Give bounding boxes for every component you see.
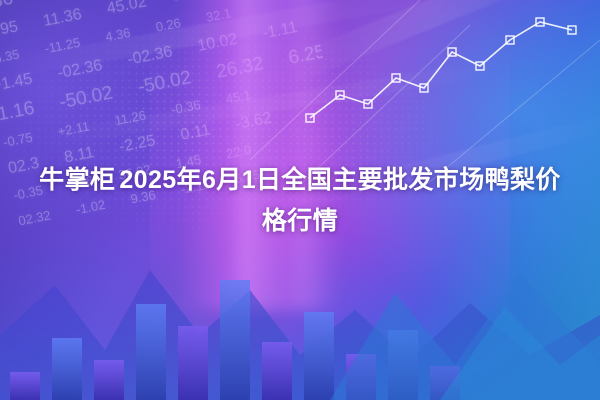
trend-line-path xyxy=(310,22,572,118)
headline-text: 牛掌柜2025年6月1日全国主要批发市场鸭梨价格行情 xyxy=(0,160,600,242)
bar-silhouette-chart xyxy=(0,215,600,400)
trend-line-markers xyxy=(306,18,576,122)
brand-name: 牛掌柜 xyxy=(39,166,115,194)
headline-title: 2025年6月1日全国主要批发市场鸭梨价格行情 xyxy=(119,166,560,235)
banner-image: 2.36+1.25-0.9532.6521.1 -2.9511.3645.028… xyxy=(0,0,600,400)
